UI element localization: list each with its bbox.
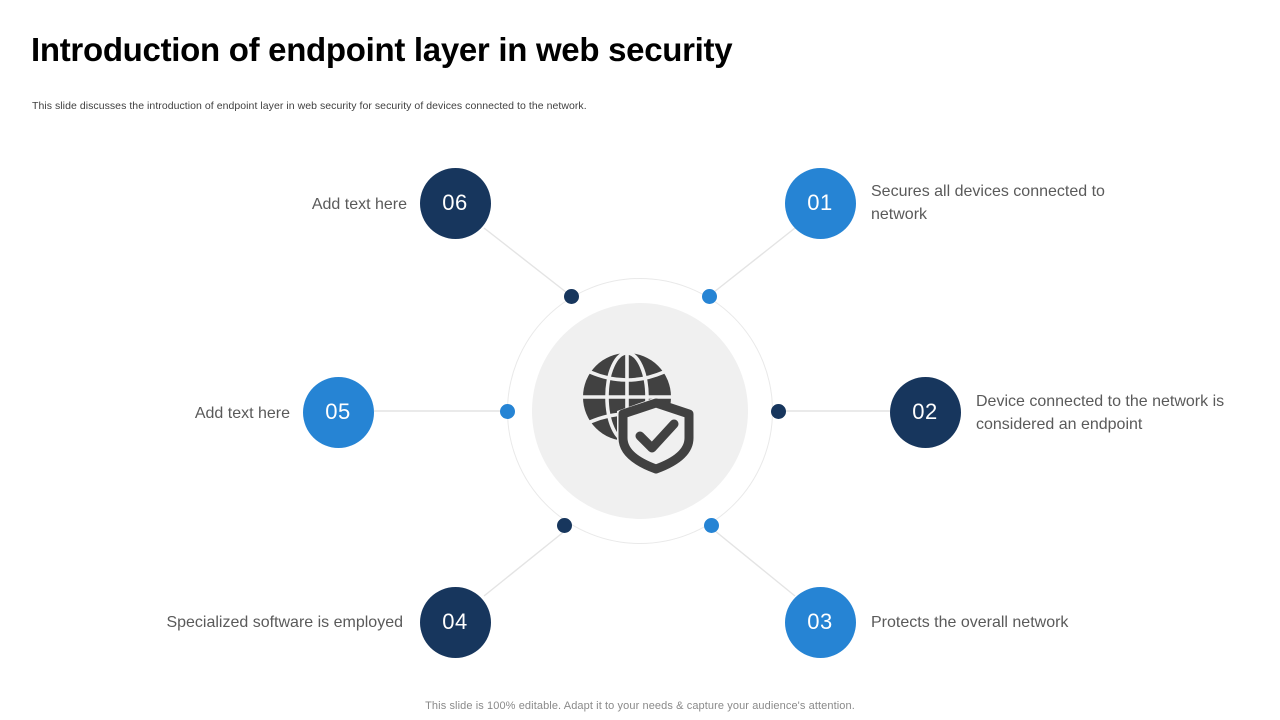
connector-line-01 <box>709 228 795 296</box>
slide-footer-note: This slide is 100% editable. Adapt it to… <box>0 700 1280 712</box>
node-number-04: 04 <box>442 609 467 635</box>
connector-line-06 <box>484 228 571 296</box>
ring-dot-06 <box>564 289 579 304</box>
node-label-05: Add text here <box>90 402 290 425</box>
node-circle-05[interactable]: 05 <box>303 377 374 448</box>
globe-shield-icon <box>570 342 710 482</box>
node-label-02: Device connected to the network is consi… <box>976 390 1244 436</box>
node-label-01: Secures all devices connected to network <box>871 180 1111 226</box>
endpoint-layer-diagram: 01 Secures all devices connected to netw… <box>0 0 1280 700</box>
node-label-03: Protects the overall network <box>871 611 1121 634</box>
connector-line-03 <box>709 526 795 596</box>
node-circle-04[interactable]: 04 <box>420 587 491 658</box>
ring-dot-01 <box>702 289 717 304</box>
node-circle-06[interactable]: 06 <box>420 168 491 239</box>
node-number-01: 01 <box>807 190 832 216</box>
node-number-03: 03 <box>807 609 832 635</box>
ring-dot-04 <box>557 518 572 533</box>
connector-line-04 <box>484 526 571 596</box>
node-circle-03[interactable]: 03 <box>785 587 856 658</box>
node-number-05: 05 <box>325 399 350 425</box>
ring-dot-03 <box>704 518 719 533</box>
node-number-02: 02 <box>912 399 937 425</box>
node-circle-02[interactable]: 02 <box>890 377 961 448</box>
node-number-06: 06 <box>442 190 467 216</box>
ring-dot-05 <box>500 404 515 419</box>
ring-dot-02 <box>771 404 786 419</box>
node-label-06: Add text here <box>207 193 407 216</box>
node-label-04: Specialized software is employed <box>110 611 403 634</box>
node-circle-01[interactable]: 01 <box>785 168 856 239</box>
